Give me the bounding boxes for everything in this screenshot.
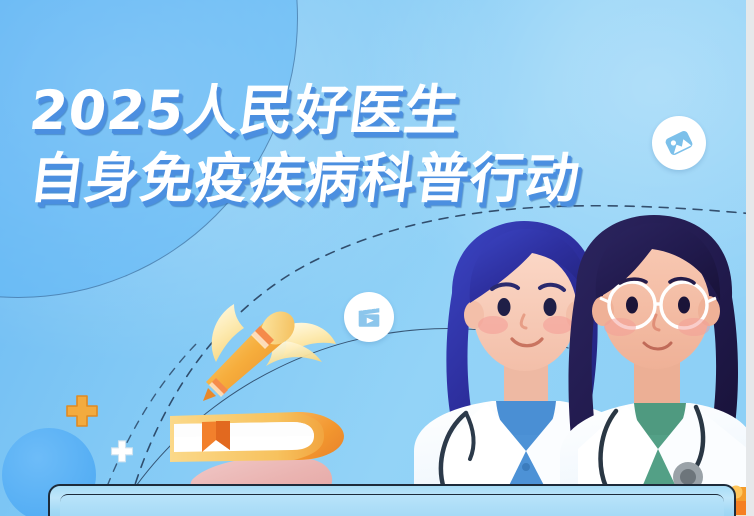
title-line-secondary: 自身免疫疾病科普行动 <box>27 152 584 206</box>
video-clapperboard-icon <box>354 302 384 332</box>
desk-bar-inner <box>60 494 724 516</box>
poster-title: 2025人民好医生 自身免疫疾病科普行动 <box>30 84 580 206</box>
plus-icon <box>62 392 102 432</box>
photo-badge[interactable] <box>652 116 706 170</box>
book-icon <box>168 404 354 474</box>
winged-pencil-icon <box>170 296 350 406</box>
image-photo-icon <box>658 122 701 165</box>
video-badge[interactable] <box>344 292 394 342</box>
poster-banner: 2025人民好医生 自身免疫疾病科普行动 <box>0 0 754 516</box>
plus-decoration-white <box>108 438 136 471</box>
doctors-illustration <box>400 215 754 516</box>
desk-bar <box>48 484 736 516</box>
title-line-primary: 2025人民好医生 <box>27 84 584 138</box>
right-edge-strip <box>746 0 754 516</box>
plus-icon <box>108 438 136 466</box>
doctor-illustration-right <box>560 215 754 516</box>
plus-decoration-orange <box>62 392 102 437</box>
